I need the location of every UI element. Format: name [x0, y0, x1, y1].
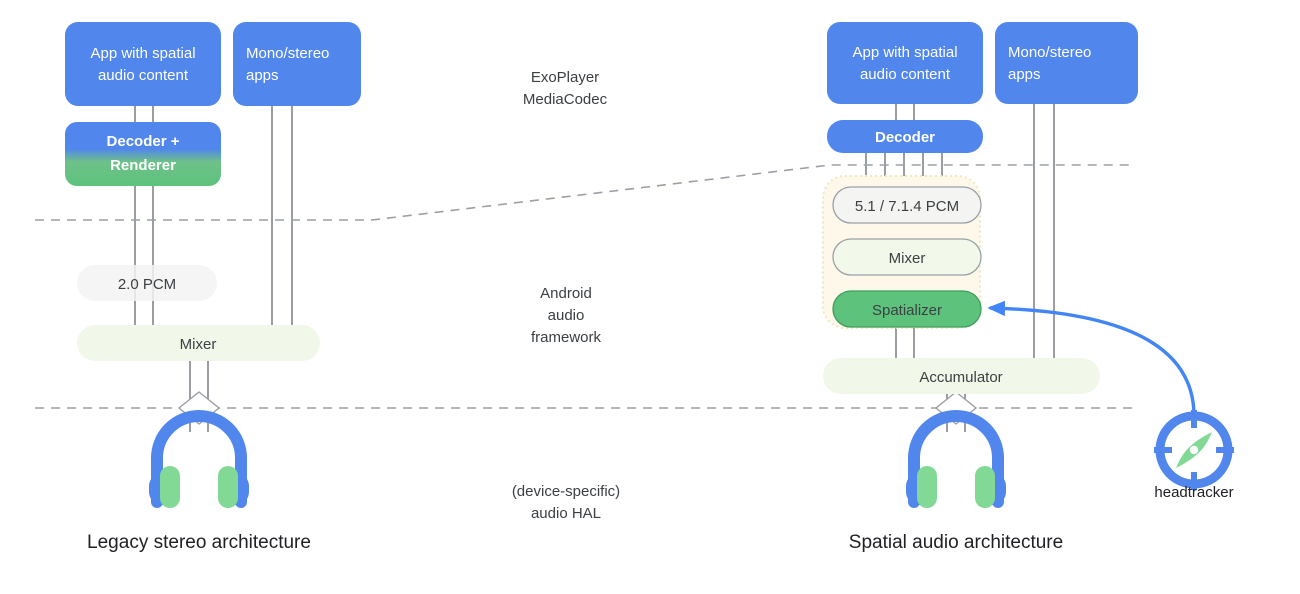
right-mono-box-line1: Mono/stereo — [1008, 44, 1091, 61]
left-pcm-pill-label: 2.0 PCM — [118, 276, 176, 293]
left-app-box-line2: audio content — [98, 67, 189, 84]
right-app-box[interactable]: App with spatial audio content — [827, 22, 983, 104]
right-app-box-line1: App with spatial — [852, 44, 957, 61]
diagram-canvas: App with spatial audio content Mono/ster… — [0, 0, 1300, 594]
layer-label-audio-hal: (device-specific) audio HAL — [512, 483, 620, 522]
android-framework-line2: audio — [548, 307, 585, 324]
right-mono-box-line2: apps — [1008, 66, 1041, 83]
right-mixer-pill[interactable]: Mixer — [833, 239, 981, 275]
android-framework-line3: framework — [531, 329, 602, 346]
left-mono-box[interactable]: Mono/stereo apps — [233, 22, 361, 106]
exoplayer-line1: ExoPlayer — [531, 69, 599, 86]
audio-hal-line1: (device-specific) — [512, 483, 620, 500]
right-pcm-pill[interactable]: 5.1 / 7.1.4 PCM — [833, 187, 981, 223]
right-app-box-line2: audio content — [860, 66, 951, 83]
left-app-box-line1: App with spatial — [90, 45, 195, 62]
right-mono-box[interactable]: Mono/stereo apps — [995, 22, 1138, 104]
right-accumulator-label: Accumulator — [919, 369, 1002, 386]
right-mixer-pill-label: Mixer — [889, 250, 926, 267]
left-pcm-pill[interactable]: 2.0 PCM — [77, 265, 217, 301]
left-mixer-pill-label: Mixer — [180, 336, 217, 353]
exoplayer-line2: MediaCodec — [523, 91, 608, 108]
right-architecture-caption: Spatial audio architecture — [849, 532, 1063, 553]
left-decoder-line2: Renderer — [110, 157, 176, 174]
headphones-icon-left — [149, 416, 249, 508]
left-mono-box-line2: apps — [246, 67, 279, 84]
audio-hal-line2: audio HAL — [531, 505, 601, 522]
left-app-box[interactable]: App with spatial audio content — [65, 22, 221, 106]
left-mono-box-line1: Mono/stereo — [246, 45, 329, 62]
left-mixer-pill[interactable]: Mixer — [77, 325, 320, 361]
layer-label-exoplayer: ExoPlayer MediaCodec — [523, 69, 608, 108]
right-decoder-label: Decoder — [875, 129, 935, 146]
left-architecture-caption: Legacy stereo architecture — [87, 532, 311, 553]
architecture-diagram: App with spatial audio content Mono/ster… — [0, 0, 1300, 594]
right-spatializer-pill[interactable]: Spatializer — [833, 291, 981, 327]
layer-label-android-audio-framework: Android audio framework — [531, 285, 602, 346]
right-pcm-pill-label: 5.1 / 7.1.4 PCM — [855, 198, 959, 215]
headphones-icon-right — [906, 416, 1006, 508]
right-decoder-box[interactable]: Decoder — [827, 120, 983, 153]
android-framework-line1: Android — [540, 285, 592, 302]
left-decoder-line1: Decoder + — [107, 133, 180, 150]
right-spatializer-label: Spatializer — [872, 302, 942, 319]
headtracker-label: headtracker — [1154, 484, 1233, 501]
compass-headtracker-icon — [1154, 410, 1234, 490]
right-accumulator-pill[interactable]: Accumulator — [823, 358, 1100, 394]
left-decoder-renderer-box[interactable]: Decoder + Renderer — [65, 122, 221, 186]
